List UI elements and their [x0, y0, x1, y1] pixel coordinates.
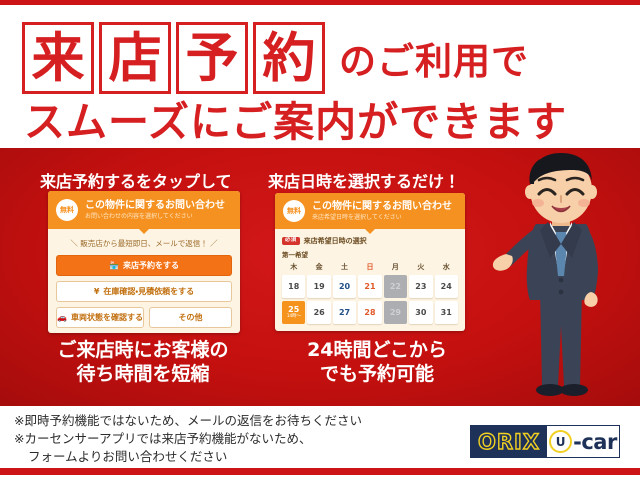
note-line-2: ※カーセンサーアプリでは来店予約機能がないため、: [14, 430, 464, 448]
preference-label: 第一希望: [282, 249, 458, 259]
stock-quote-button[interactable]: ¥ 在庫確認・見積依頼をする: [56, 281, 232, 302]
ucar-u-circle: U: [549, 430, 572, 453]
kanji-box-1: 来: [22, 22, 94, 94]
weekday-sun: 日: [358, 262, 381, 275]
calendar-header-title: この物件に関するお問い合わせ: [312, 201, 452, 213]
date-cell[interactable]: 20: [333, 275, 356, 298]
weekday-thu: 木: [282, 262, 305, 275]
date-number: 18: [288, 283, 299, 291]
inquiry-form-card: 無料 この物件に関するお問い合わせ お問い合わせの内容を選択してください ＼ 販…: [48, 191, 240, 333]
footer-notes: ※即時予約機能ではないため、メールの返信をお待ちください ※カーセンサーアプリで…: [14, 412, 464, 465]
date-cell[interactable]: 30: [409, 301, 432, 324]
kanji-box-4: 約: [253, 22, 325, 94]
other-button[interactable]: その他: [149, 307, 232, 328]
kanji-box-3: 予: [176, 22, 248, 94]
ucar-text: -car: [573, 430, 617, 454]
kanji-box-2: 店: [99, 22, 171, 94]
reserve-visit-label: 来店予約をする: [123, 260, 179, 271]
header-notch: [138, 228, 150, 234]
free-badge-calendar: 無料: [283, 200, 305, 222]
inquiry-header-title: この物件に関するお問い合わせ: [85, 200, 225, 212]
date-number: 23: [415, 283, 426, 291]
weekday-tue: 火: [409, 262, 432, 275]
date-cell[interactable]: 23: [409, 275, 432, 298]
inquiry-card-body: ＼ 販売店から最短即日、メールで返信！ ／ 🏪 来店予約をする ¥ 在庫確認・見…: [48, 229, 240, 333]
date-number: 25: [288, 306, 299, 314]
store-icon: 🏪: [109, 262, 119, 270]
yen-icon: ¥: [94, 288, 100, 296]
date-cell-selected[interactable]: 25 14時～: [282, 301, 305, 324]
visit-reservation-banner: 来 店 予 約 のご利用で スムーズにご案内ができます 来店予約するをタップして…: [0, 0, 640, 480]
weekday-mon: 月: [384, 262, 407, 275]
headline-second-line: スムーズにご案内ができます: [24, 102, 624, 143]
secondary-button-row: 🚗 車両状態を確認する その他: [56, 307, 232, 328]
weekday-header-row: 木 金 土 日 月 火 水: [282, 262, 458, 275]
date-cell[interactable]: 19: [307, 275, 330, 298]
left-caption-line1: ご来店時にお客様の: [18, 338, 268, 362]
calendar-card-header: 無料 この物件に関するお問い合わせ 来店希望日時を選択してください: [275, 193, 465, 229]
date-cell-disabled: 22: [384, 275, 407, 298]
date-number: 29: [390, 309, 401, 317]
date-cell[interactable]: 24: [435, 275, 458, 298]
other-label: その他: [178, 312, 202, 323]
bottom-red-rule: [0, 468, 640, 475]
calendar-header-notch: [364, 228, 376, 234]
date-number: 21: [364, 283, 375, 291]
orix-wordmark: ORIX: [471, 426, 547, 457]
headline-tail-text: のご利用で: [339, 31, 529, 85]
inquiry-header-subtitle: お問い合わせの内容を選択してください: [85, 213, 225, 220]
date-cell[interactable]: 26: [307, 301, 330, 324]
date-number: 26: [314, 309, 325, 317]
vehicle-condition-button[interactable]: 🚗 車両状態を確認する: [56, 307, 144, 328]
date-number: 20: [339, 283, 350, 291]
orix-ucar-logo: ORIX U -car: [470, 425, 620, 458]
calendar-header-subtitle: 来店希望日時を選択してください: [312, 214, 452, 221]
weekday-sat: 土: [333, 262, 356, 275]
headline-section: 来 店 予 約 のご利用で スムーズにご案内ができます: [0, 5, 640, 148]
note-line-1: ※即時予約機能ではないため、メールの返信をお待ちください: [14, 412, 464, 430]
calendar-week-row-2: 25 14時～ 26 27 28 29 30 31: [282, 301, 458, 324]
required-badge: 必須: [282, 237, 300, 246]
date-cell[interactable]: 18: [282, 275, 305, 298]
date-time-sublabel: 14時～: [287, 315, 301, 320]
calendar-section-title-row: 必須 来店希望日時の選択: [282, 236, 458, 246]
stock-quote-label: 在庫確認・見積依頼をする: [103, 286, 194, 297]
calendar-section-title: 来店希望日時の選択: [304, 236, 367, 246]
calendar-body: 必須 来店希望日時の選択 第一希望 木 金 土 日 月 火 水 18 19 20…: [275, 229, 465, 331]
free-badge: 無料: [56, 199, 78, 221]
inquiry-card-header: 無料 この物件に関するお問い合わせ お問い合わせの内容を選択してください: [48, 191, 240, 229]
note-line-3: フォームよりお問い合わせください: [14, 448, 464, 466]
date-number: 22: [390, 283, 401, 291]
date-cell-disabled: 29: [384, 301, 407, 324]
date-number: 19: [314, 283, 325, 291]
left-caption: ご来店時にお客様の 待ち時間を短縮: [18, 338, 268, 387]
date-number: 31: [441, 309, 452, 317]
date-cell[interactable]: 31: [435, 301, 458, 324]
right-caption-line2: でも予約可能: [262, 362, 492, 386]
weekday-fri: 金: [307, 262, 330, 275]
date-number: 24: [441, 283, 452, 291]
date-cell[interactable]: 28: [358, 301, 381, 324]
weekday-wed: 水: [435, 262, 458, 275]
left-panel-heading: 来店予約するをタップして: [40, 168, 232, 192]
right-caption: 24時間どこから でも予約可能: [262, 338, 492, 387]
date-cell[interactable]: 27: [333, 301, 356, 324]
right-panel-heading: 来店日時を選択するだけ！: [268, 168, 460, 192]
date-cell[interactable]: 21: [358, 275, 381, 298]
right-caption-line1: 24時間どこから: [262, 338, 492, 362]
calendar-week-row-1: 18 19 20 21 22 23 24: [282, 275, 458, 298]
inquiry-lead-text: ＼ 販売店から最短即日、メールで返信！ ／: [56, 238, 232, 249]
calendar-card: 無料 この物件に関するお問い合わせ 来店希望日時を選択してください 必須 来店希…: [275, 193, 465, 331]
car-icon: 🚗: [57, 314, 67, 322]
date-number: 28: [364, 309, 375, 317]
vehicle-condition-label: 車両状態を確認する: [71, 312, 143, 323]
date-number: 30: [415, 309, 426, 317]
reserve-visit-button[interactable]: 🏪 来店予約をする: [56, 255, 232, 276]
left-caption-line2: 待ち時間を短縮: [18, 362, 268, 386]
ucar-wordmark: U -car: [547, 426, 619, 457]
businessman-illustration: [492, 150, 630, 406]
headline-boxed-kanji: 来 店 予 約 のご利用で: [22, 22, 529, 94]
date-number: 27: [339, 309, 350, 317]
